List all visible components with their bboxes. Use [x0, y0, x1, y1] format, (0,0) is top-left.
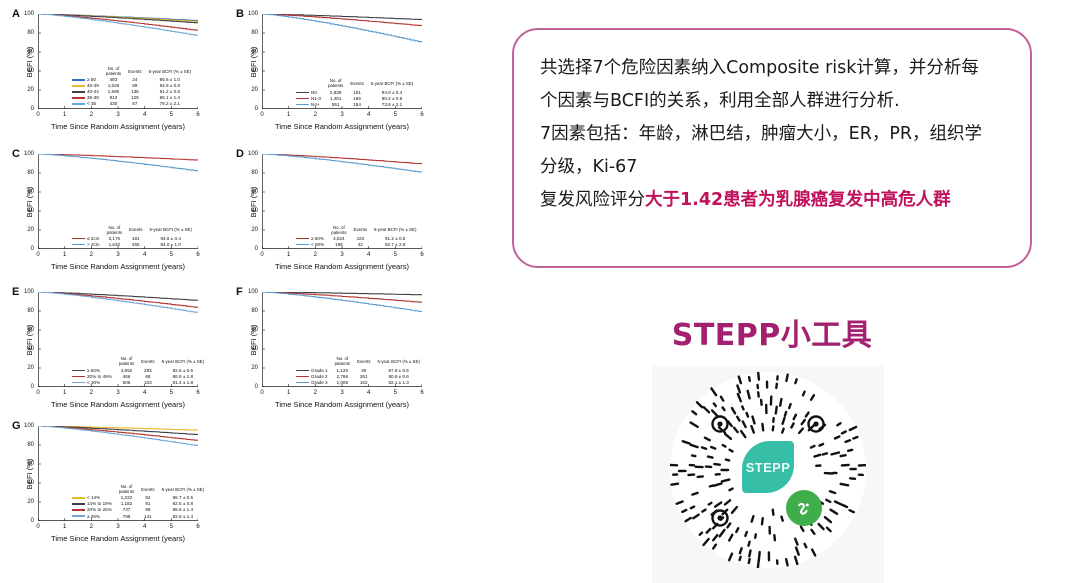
- legend-series-label: ≥ 50%: [311, 236, 324, 241]
- x-tick-label: 2: [90, 524, 93, 530]
- summary-line: 复发风险评分大于1.42患者为乳腺癌复发中高危人群: [540, 184, 1004, 217]
- legend-series-label: > 2cm: [87, 242, 100, 247]
- y-tick-label: 100: [24, 289, 34, 295]
- x-tick-label: 6: [420, 112, 423, 118]
- x-tick-label: 5: [170, 524, 173, 530]
- legend-header-bcfi: 5-year BCFI (% ± SE): [377, 356, 419, 367]
- x-tick-label: 0: [260, 112, 263, 118]
- legend-series-label: Grade 2: [311, 374, 328, 379]
- legend-header-row: No. ofpatientsEvents5-year BCFI (% ± SE): [294, 356, 420, 367]
- panel-legend: No. ofpatientsEvents5-year BCFI (% ± SE)…: [70, 356, 204, 385]
- summary-line: 分级，Ki-67: [540, 151, 1004, 184]
- y-tick-label: 40: [27, 346, 34, 352]
- x-tick-label: 3: [116, 252, 119, 258]
- y-tick-label: 40: [27, 68, 34, 74]
- plot-area: BCFI (%)0204060801000123456Time Since Ra…: [262, 292, 422, 387]
- panel-letter: E: [12, 286, 19, 298]
- x-tick-label: 1: [63, 524, 66, 530]
- x-tick-label: 3: [116, 524, 119, 530]
- legend-5yr-bcfi: 82.1 ± 1.3: [377, 380, 419, 386]
- legend-header-patients: No. ofpatients: [107, 225, 129, 236]
- legend-color-swatch-icon: [72, 85, 85, 87]
- legend-header-patients-l2: patients: [331, 230, 346, 235]
- legend-color-swatch-icon: [296, 92, 309, 94]
- legend-series-label-cell: > 2cm: [70, 242, 107, 248]
- x-axis-label: Time Since Random Assignment (years): [262, 122, 422, 131]
- x-tick-label: 6: [420, 252, 423, 258]
- legend-patients: 506: [119, 380, 141, 386]
- y-tick-label: 60: [27, 461, 34, 467]
- legend-series-label: < 35: [87, 101, 96, 106]
- panel-letter: G: [12, 420, 21, 432]
- y-tick-label: 60: [27, 327, 34, 333]
- x-axis-label: Time Since Random Assignment (years): [262, 400, 422, 409]
- legend-row: < 20%50610381.4 ± 1.8: [70, 380, 204, 386]
- legend-series-label: ≥ 50%: [87, 368, 100, 373]
- x-tick-label: 3: [116, 390, 119, 396]
- legend-color-swatch-icon: [72, 238, 85, 240]
- y-tick-label: 100: [248, 289, 258, 295]
- legend-color-swatch-icon: [72, 515, 85, 517]
- legend-patients: 196: [331, 242, 353, 248]
- panel-legend: No. ofpatientsEvents5-year BCFI (% ± SE)…: [294, 225, 416, 248]
- legend-series-label-cell: < 35: [70, 101, 106, 107]
- legend-header-patients: No. ofpatients: [106, 66, 128, 77]
- y-tick-label: 40: [251, 346, 258, 352]
- panel-a: ABCFI (%)0204060801000123456Time Since R…: [8, 8, 218, 136]
- panel-b: BBCFI (%)0204060801000123456Time Since R…: [232, 8, 442, 136]
- legend-header-spacer: [70, 356, 119, 367]
- legend-color-swatch-icon: [72, 79, 85, 81]
- legend-color-swatch-icon: [72, 509, 85, 511]
- x-tick-label: 0: [260, 252, 263, 258]
- panel-letter: C: [12, 148, 20, 160]
- x-tick-label: 1: [63, 390, 66, 396]
- x-tick-label: 0: [260, 390, 263, 396]
- legend-series-label: N4+: [311, 102, 320, 107]
- x-tick-label: 5: [394, 252, 397, 258]
- legend-color-swatch-icon: [72, 376, 85, 378]
- legend-header-row: No. ofpatientsEvents5-year BCFI (% ± SE): [294, 78, 413, 89]
- x-tick-label: 2: [314, 112, 317, 118]
- x-tick-label: 5: [170, 252, 173, 258]
- miniprogram-glyph-icon: [792, 496, 816, 520]
- summary-line-highlight: 大于1.42患者为乳腺癌复发中高危人群: [645, 190, 951, 210]
- legend-row: N1-31,45115690.2 ± 0.9: [294, 96, 413, 102]
- y-tick-label: 0: [31, 106, 34, 112]
- panel-c: CBCFI (%)0204060801000123456Time Since R…: [8, 148, 218, 276]
- summary-line-text: 共选择7个危险因素纳入Composite risk计算，并分析每: [540, 58, 979, 78]
- x-axis-label: Time Since Random Assignment (years): [38, 534, 198, 543]
- legend-header-patients-l2: patients: [107, 230, 122, 235]
- legend-color-swatch-icon: [72, 103, 85, 105]
- y-tick-label: 20: [27, 365, 34, 371]
- x-tick-label: 1: [287, 390, 290, 396]
- legend-header-spacer: [70, 225, 107, 236]
- y-tick-label: 80: [27, 30, 34, 36]
- y-tick-label: 80: [27, 170, 34, 176]
- legend-series-label: Grade 3: [311, 380, 328, 385]
- plot-area: BCFI (%)0204060801000123456Time Since Ra…: [38, 292, 198, 387]
- x-tick-label: 4: [143, 524, 146, 530]
- legend-row: N4+55115473.8 ± 2.1: [294, 102, 413, 108]
- legend-patients: 1,006: [335, 380, 357, 386]
- legend-5yr-bcfi: 82.9 ± 1.4: [162, 514, 204, 520]
- y-tick-label: 60: [251, 49, 258, 55]
- legend-header-patients-l2: patients: [328, 83, 343, 88]
- y-tick-label: 20: [251, 227, 258, 233]
- x-tick-label: 1: [287, 112, 290, 118]
- legend-5yr-bcfi: 82.7 ± 2.8: [374, 242, 416, 248]
- legend-header-bcfi: 5-year BCFI (% ± SE): [149, 225, 191, 236]
- legend-color-swatch-icon: [72, 244, 85, 246]
- y-tick-label: 0: [255, 106, 258, 112]
- legend-row: N02,93916194.9 ± 0.4: [294, 90, 413, 96]
- panel-f: FBCFI (%)0204060801000123456Time Since R…: [232, 286, 442, 414]
- panel-legend: No. ofpatientsEvents5-year BCFI (% ± SE)…: [294, 78, 413, 107]
- legend-row: ≥ 26%79814182.9 ± 1.4: [70, 514, 204, 520]
- legend-series-label: ≥ 50: [87, 77, 96, 82]
- legend-patients: 551: [328, 102, 350, 108]
- x-tick-label: 5: [170, 390, 173, 396]
- x-tick-label: 6: [196, 524, 199, 530]
- legend-5yr-bcfi: 84.0 ± 1.0: [149, 242, 191, 248]
- y-tick-label: 20: [27, 499, 34, 505]
- legend-header-events: Events: [128, 66, 148, 77]
- summary-text-card: 共选择7个危险因素纳入Composite risk计算，并分析每个因素与BCFI…: [512, 28, 1032, 268]
- y-tick-label: 20: [27, 87, 34, 93]
- x-tick-label: 3: [340, 112, 343, 118]
- legend-series-label: 20% to 49%: [87, 374, 112, 379]
- legend-series-label: < 14%: [87, 495, 100, 500]
- x-tick-label: 6: [420, 390, 423, 396]
- x-tick-label: 0: [36, 524, 39, 530]
- y-tick-label: 100: [24, 151, 34, 157]
- legend-header-events: Events: [354, 225, 374, 236]
- legend-header-patients: No. ofpatients: [335, 356, 357, 367]
- x-tick-label: 5: [394, 112, 397, 118]
- legend-color-swatch-icon: [72, 497, 85, 499]
- legend-color-swatch-icon: [296, 376, 309, 378]
- legend-header-patients-l2: patients: [119, 361, 134, 366]
- summary-line: 个因素与BCFI的关系，利用全部人群进行分析.: [540, 85, 1004, 118]
- legend-series-label: < 50%: [311, 242, 324, 247]
- wechat-qr-icon[interactable]: STEPP: [670, 372, 866, 568]
- x-tick-label: 4: [367, 112, 370, 118]
- legend-header-row: No. ofpatientsEvents5-year BCFI (% ± SE): [70, 484, 204, 495]
- legend-header-bcfi: 5-year BCFI (% ± SE): [162, 484, 204, 495]
- stepp-tool-title: STEPP小工具: [512, 310, 1032, 354]
- legend-events: 103: [141, 380, 161, 386]
- legend-color-swatch-icon: [72, 370, 85, 372]
- legend-header-row: No. ofpatientsEvents5-year BCFI (% ± SE): [70, 225, 192, 236]
- legend-series-label-cell: 20% to 25%: [70, 507, 119, 513]
- y-tick-label: 0: [31, 246, 34, 252]
- x-tick-label: 6: [196, 112, 199, 118]
- y-tick-label: 100: [24, 11, 34, 17]
- legend-color-swatch-icon: [72, 503, 85, 505]
- y-tick-label: 80: [251, 170, 258, 176]
- x-tick-label: 3: [340, 252, 343, 258]
- plot-area: BCFI (%)0204060801000123456Time Since Ra…: [262, 14, 422, 109]
- y-tick-label: 20: [27, 227, 34, 233]
- panel-legend: No. ofpatientsEvents5-year BCFI (% ± SE)…: [70, 484, 204, 519]
- summary-line-text: 分级，Ki-67: [540, 157, 637, 177]
- legend-header-events: Events: [141, 484, 161, 495]
- legend-header-row: No. ofpatientsEvents5-year BCFI (% ± SE): [294, 225, 416, 236]
- y-tick-label: 40: [251, 68, 258, 74]
- y-tick-label: 60: [27, 49, 34, 55]
- legend-header-patients-l2: patients: [106, 71, 121, 76]
- legend-series-label: 20% to 25%: [87, 507, 112, 512]
- legend-patients: 798: [119, 514, 141, 520]
- legend-header-events: Events: [129, 225, 149, 236]
- legend-color-swatch-icon: [296, 104, 309, 106]
- legend-5yr-bcfi: 79.2 ± 2.1: [149, 101, 191, 107]
- y-tick-label: 0: [31, 518, 34, 524]
- legend-color-swatch-icon: [72, 382, 85, 384]
- legend-color-swatch-icon: [296, 98, 309, 100]
- legend-header-spacer: [294, 225, 331, 236]
- panel-e: EBCFI (%)0204060801000123456Time Since R…: [8, 286, 218, 414]
- legend-header-patients-l2: patients: [335, 361, 350, 366]
- survival-curve: [262, 154, 422, 173]
- y-tick-label: 60: [251, 189, 258, 195]
- legend-row: < 354308779.2 ± 2.1: [70, 101, 191, 107]
- legend-series-label-cell: ≥ 26%: [70, 514, 119, 520]
- y-tick-label: 0: [255, 384, 258, 390]
- x-tick-label: 0: [36, 390, 39, 396]
- x-tick-label: 0: [36, 112, 39, 118]
- survival-curve: [262, 292, 422, 312]
- legend-series-label: 45-49: [87, 83, 99, 88]
- wechat-miniprogram-badge-icon: [786, 490, 822, 526]
- slide-root: ABCFI (%)0204060801000123456Time Since R…: [0, 0, 1080, 583]
- panel-legend: No. ofpatientsEvents5-year BCFI (% ± SE)…: [70, 66, 191, 107]
- legend-series-label: 14% to 19%: [87, 501, 112, 506]
- legend-series-label: < 20%: [87, 380, 100, 385]
- y-tick-label: 40: [251, 208, 258, 214]
- legend-color-swatch-icon: [72, 97, 85, 99]
- y-tick-label: 40: [27, 480, 34, 486]
- summary-line-text: 7因素包括：年龄，淋巴结，肿瘤大小，ER，PR，组织学: [540, 124, 982, 144]
- stepp-logo-label: STEPP: [746, 460, 791, 475]
- legend-header-bcfi: 5-year BCFI (% ± SE): [371, 78, 413, 89]
- x-tick-label: 4: [143, 112, 146, 118]
- panel-letter: B: [236, 8, 244, 20]
- x-tick-label: 2: [90, 252, 93, 258]
- panel-letter: F: [236, 286, 243, 298]
- x-tick-label: 2: [314, 390, 317, 396]
- y-tick-label: 80: [27, 308, 34, 314]
- y-tick-label: 100: [24, 423, 34, 429]
- x-tick-label: 2: [90, 112, 93, 118]
- x-axis-label: Time Since Random Assignment (years): [262, 262, 422, 271]
- legend-header-patients-l1: No. of: [107, 225, 122, 230]
- legend-row: > 2cm1,63226584.0 ± 1.0: [70, 242, 192, 248]
- legend-header-patients: No. ofpatients: [331, 225, 353, 236]
- x-tick-label: 4: [367, 252, 370, 258]
- legend-events: 154: [350, 102, 370, 108]
- panel-legend: No. ofpatientsEvents5-year BCFI (% ± SE)…: [294, 356, 420, 385]
- plot-area: BCFI (%)0204060801000123456Time Since Ra…: [38, 426, 198, 521]
- legend-color-swatch-icon: [296, 244, 309, 246]
- legend-series-label-cell: < 50%: [294, 242, 331, 248]
- y-tick-label: 20: [251, 365, 258, 371]
- panel-d: DBCFI (%)0204060801000123456Time Since R…: [232, 148, 442, 276]
- legend-series-label: N1-3: [311, 96, 321, 101]
- legend-color-swatch-icon: [296, 382, 309, 384]
- legend-color-swatch-icon: [296, 238, 309, 240]
- y-tick-label: 0: [255, 246, 258, 252]
- legend-header-events: Events: [357, 356, 377, 367]
- x-tick-label: 4: [143, 390, 146, 396]
- x-axis-label: Time Since Random Assignment (years): [38, 122, 198, 131]
- x-tick-label: 4: [143, 252, 146, 258]
- x-tick-label: 3: [116, 112, 119, 118]
- legend-header-patients-l1: No. of: [331, 225, 346, 230]
- legend-5yr-bcfi: 73.8 ± 2.1: [371, 102, 413, 108]
- legend-series-label-cell: 20% to 49%: [70, 374, 119, 380]
- legend-events: 42: [354, 242, 374, 248]
- legend-header-spacer: [70, 66, 106, 77]
- legend-header-bcfi: 5-year BCFI (% ± SE): [374, 225, 416, 236]
- legend-series-label: N0: [311, 90, 317, 95]
- plot-area: BCFI (%)0204060801000123456Time Since Ra…: [38, 14, 198, 109]
- legend-events: 162: [357, 380, 377, 386]
- qr-code-block[interactable]: STEPP: [652, 366, 884, 583]
- legend-header-patients-l2: patients: [119, 489, 134, 494]
- y-tick-label: 80: [27, 442, 34, 448]
- legend-color-swatch-icon: [72, 91, 85, 93]
- y-tick-label: 20: [251, 87, 258, 93]
- summary-line-text: 复发风险评分: [540, 190, 645, 210]
- panel-g: GBCFI (%)0204060801000123456Time Since R…: [8, 420, 218, 548]
- plot-area: BCFI (%)0204060801000123456Time Since Ra…: [262, 154, 422, 249]
- panel-letter: D: [236, 148, 244, 160]
- legend-header-spacer: [70, 484, 119, 495]
- y-tick-label: 0: [31, 384, 34, 390]
- x-tick-label: 2: [90, 390, 93, 396]
- legend-series-label: Grade 1: [311, 368, 328, 373]
- x-tick-label: 1: [287, 252, 290, 258]
- legend-header-spacer: [294, 78, 328, 89]
- panel-letter: A: [12, 8, 20, 20]
- x-axis-label: Time Since Random Assignment (years): [38, 262, 198, 271]
- legend-row: < 50%1964282.7 ± 2.8: [294, 242, 416, 248]
- legend-header-events: Events: [141, 356, 161, 367]
- x-tick-label: 1: [63, 252, 66, 258]
- legend-series-label: ≤ 2cm: [87, 236, 99, 241]
- y-tick-label: 60: [27, 189, 34, 195]
- legend-header-patients: No. ofpatients: [119, 484, 141, 495]
- x-tick-label: 3: [340, 390, 343, 396]
- legend-header-patients: No. ofpatients: [328, 78, 350, 89]
- legend-header-bcfi: 5-year BCFI (% ± SE): [162, 356, 204, 367]
- x-tick-label: 2: [314, 252, 317, 258]
- summary-line-text: 个因素与BCFI的关系，利用全部人群进行分析.: [540, 91, 900, 111]
- summary-line: 7因素包括：年龄，淋巴结，肿瘤大小，ER，PR，组织学: [540, 118, 1004, 151]
- legend-series-label: 40-44: [87, 89, 99, 94]
- x-tick-label: 6: [196, 252, 199, 258]
- x-tick-label: 4: [367, 390, 370, 396]
- x-tick-label: 0: [36, 252, 39, 258]
- summary-line: 共选择7个危险因素纳入Composite risk计算，并分析每: [540, 52, 1004, 85]
- legend-header-bcfi: 5-year BCFI (% ± SE): [149, 66, 191, 77]
- legend-row: Grade 31,00616282.1 ± 1.3: [294, 380, 420, 386]
- legend-color-swatch-icon: [296, 370, 309, 372]
- legend-series-label-cell: < 20%: [70, 380, 119, 386]
- legend-5yr-bcfi: 81.4 ± 1.8: [162, 380, 204, 386]
- legend-header-row: No. ofpatientsEvents5-year BCFI (% ± SE): [70, 356, 204, 367]
- legend-events: 265: [129, 242, 149, 248]
- legend-series-label: 35-39: [87, 95, 99, 100]
- legend-header-row: No. ofpatientsEvents5-year BCFI (% ± SE): [70, 66, 191, 77]
- legend-events: 87: [128, 101, 148, 107]
- legend-patients: 1,632: [107, 242, 129, 248]
- panel-legend: No. ofpatientsEvents5-year BCFI (% ± SE)…: [70, 225, 192, 248]
- x-tick-label: 6: [196, 390, 199, 396]
- x-tick-label: 1: [63, 112, 66, 118]
- legend-events: 141: [141, 514, 161, 520]
- y-tick-label: 40: [27, 208, 34, 214]
- x-tick-label: 5: [394, 390, 397, 396]
- legend-series-label-cell: Grade 3: [294, 380, 335, 386]
- plot-area: BCFI (%)0204060801000123456Time Since Ra…: [38, 154, 198, 249]
- legend-header-spacer: [294, 356, 335, 367]
- x-axis-label: Time Since Random Assignment (years): [38, 400, 198, 409]
- legend-patients: 430: [106, 101, 128, 107]
- legend-header-patients: No. ofpatients: [119, 356, 141, 367]
- legend-series-label: ≥ 26%: [87, 514, 100, 519]
- x-tick-label: 5: [170, 112, 173, 118]
- legend-series-label-cell: N4+: [294, 102, 328, 108]
- y-tick-label: 80: [251, 30, 258, 36]
- y-tick-label: 60: [251, 327, 258, 333]
- y-tick-label: 100: [248, 11, 258, 17]
- y-tick-label: 80: [251, 308, 258, 314]
- legend-header-events: Events: [350, 78, 370, 89]
- y-tick-label: 100: [248, 151, 258, 157]
- survival-curve-figure: ABCFI (%)0204060801000123456Time Since R…: [0, 0, 500, 583]
